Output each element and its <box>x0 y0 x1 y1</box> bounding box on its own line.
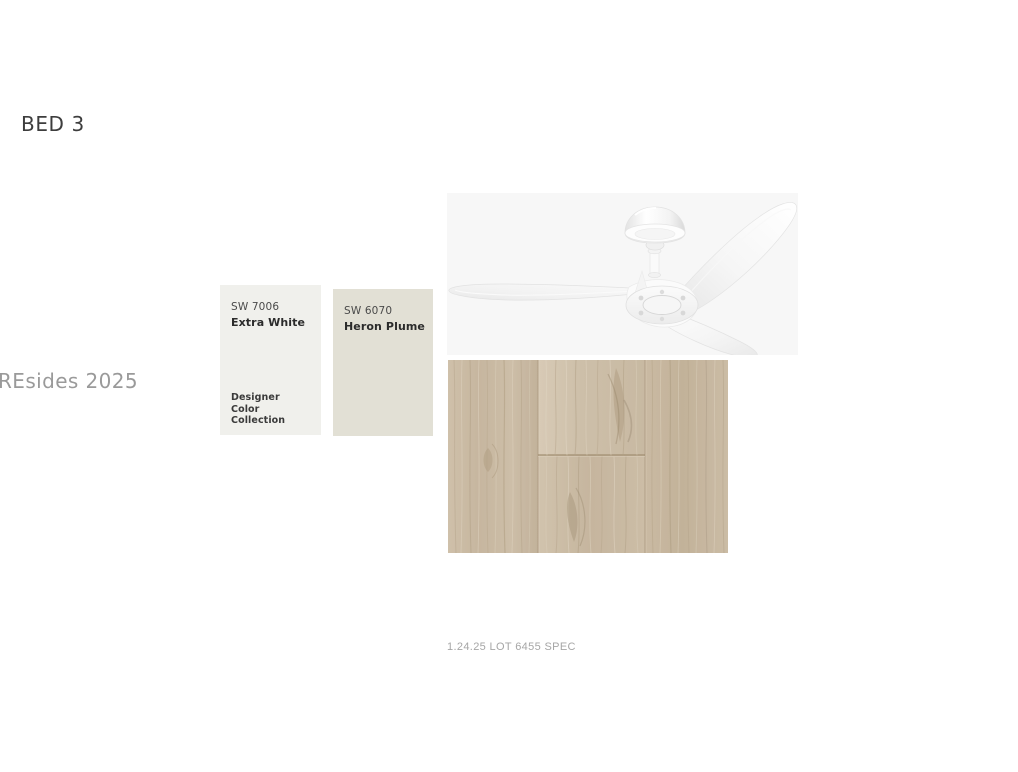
ceiling-fan-image <box>447 193 798 355</box>
paint-collection-line-1: Designer <box>231 392 285 403</box>
paint-collection-line-3: Collection <box>231 415 285 426</box>
paint-name: Extra White <box>231 316 305 329</box>
paint-code: SW 7006 <box>231 301 279 313</box>
paint-swatch-heron-plume: SW 6070 Heron Plume <box>333 289 433 436</box>
brand-watermark: REsides 2025 <box>0 369 138 393</box>
wood-flooring-illustration <box>448 360 728 553</box>
slide-caption: 1.24.25 LOT 6455 SPEC <box>447 641 576 653</box>
paint-swatch-extra-white: SW 7006 Extra White Designer Color Colle… <box>220 285 321 435</box>
ceiling-fan-illustration <box>447 193 798 355</box>
paint-name: Heron Plume <box>344 320 425 333</box>
design-board-slide: BED 3 REsides 2025 SW 7006 Extra White D… <box>0 0 1018 772</box>
wood-flooring-image <box>448 360 728 553</box>
paint-code: SW 6070 <box>344 305 392 317</box>
page-title: BED 3 <box>21 112 85 136</box>
paint-collection-label: Designer Color Collection <box>231 392 285 426</box>
paint-collection-line-2: Color <box>231 404 285 415</box>
